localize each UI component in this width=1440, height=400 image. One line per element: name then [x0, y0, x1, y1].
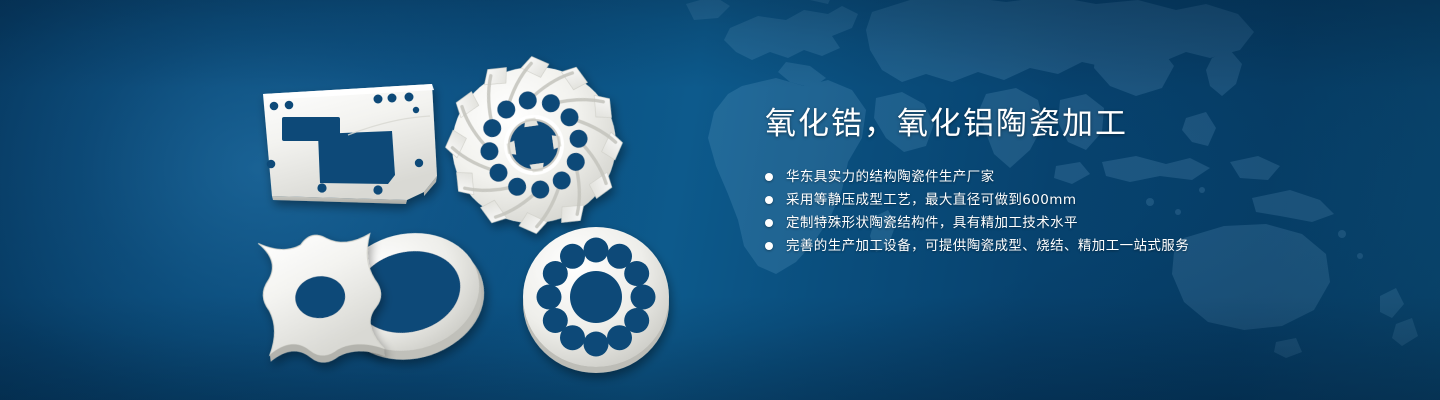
copy-block: 氧化锆，氧化铝陶瓷加工 华东具实力的结构陶瓷件生产厂家 采用等静压成型工艺，最大… — [765, 104, 1385, 257]
bullet-dot-icon — [765, 242, 773, 250]
list-item: 定制特殊形状陶瓷结构件，具有精加工技术水平 — [765, 212, 1385, 234]
list-item: 华东具实力的结构陶瓷件生产厂家 — [765, 166, 1385, 188]
bullet-dot-icon — [765, 219, 773, 227]
hero-banner: 氧化锆，氧化铝陶瓷加工 华东具实力的结构陶瓷件生产厂家 采用等静压成型工艺，最大… — [0, 0, 1440, 400]
page-title: 氧化锆，氧化铝陶瓷加工 — [765, 104, 1385, 144]
feature-text: 采用等静压成型工艺，最大直径可做到600mm — [786, 189, 1076, 211]
bullet-dot-icon — [765, 196, 773, 204]
list-item: 采用等静压成型工艺，最大直径可做到600mm — [765, 189, 1385, 211]
feature-text: 完善的生产加工设备，可提供陶瓷成型、烧结、精加工一站式服务 — [786, 235, 1189, 257]
feature-text: 华东具实力的结构陶瓷件生产厂家 — [786, 166, 995, 188]
feature-list: 华东具实力的结构陶瓷件生产厂家 采用等静压成型工艺，最大直径可做到600mm 定… — [765, 166, 1385, 257]
feature-text: 定制特殊形状陶瓷结构件，具有精加工技术水平 — [786, 212, 1078, 234]
list-item: 完善的生产加工设备，可提供陶瓷成型、烧结、精加工一站式服务 — [765, 235, 1385, 257]
bullet-dot-icon — [765, 173, 773, 181]
